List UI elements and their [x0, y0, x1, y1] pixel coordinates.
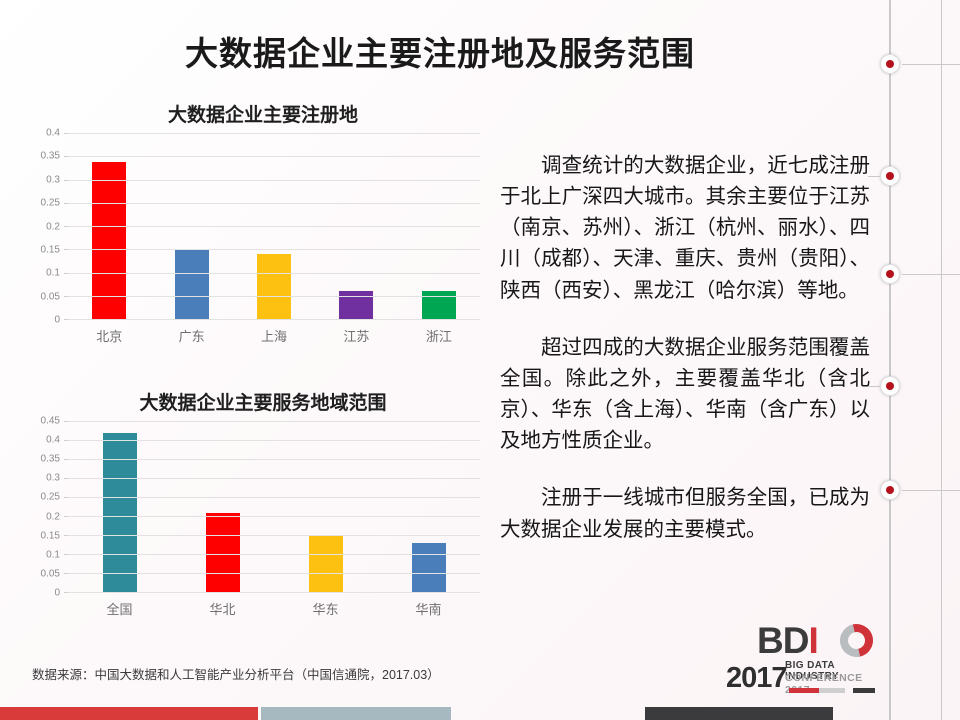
y-axis-tick-mark [64, 478, 68, 479]
x-axis-labels: 北京广东上海江苏浙江 [68, 322, 480, 348]
y-axis-tick-label: 0.1 [46, 268, 60, 279]
grid-line [68, 478, 480, 479]
bar-全国 [103, 433, 137, 592]
y-axis-tick-label: 0.1 [46, 549, 60, 560]
bar-华东 [309, 535, 343, 592]
grid-line [68, 459, 480, 460]
y-axis-tick-mark [64, 226, 68, 227]
accent-segment-gray [261, 707, 451, 720]
y-axis-tick-label: 0.15 [41, 244, 60, 255]
y-axis-tick-mark [64, 156, 68, 157]
grid-line [68, 573, 480, 574]
x-axis-label-华北: 华北 [171, 599, 274, 618]
grid-line [68, 133, 480, 134]
accent-segment-red [0, 707, 258, 720]
x-axis-label-江苏: 江苏 [315, 326, 397, 345]
chart-registration-location: 大数据企业主要注册地 00.050.10.150.20.250.30.350.4… [18, 100, 488, 348]
timeline-connector-4 [868, 386, 880, 387]
x-axis-label-华南: 华南 [377, 599, 480, 618]
bar-华南 [412, 543, 446, 592]
bar-slot [274, 421, 377, 592]
y-axis-tick-mark [64, 440, 68, 441]
logo-bd-text: BD [757, 620, 808, 661]
grid-line [68, 319, 480, 320]
chart-plot-area: 00.050.10.150.20.250.30.350.40.45 全国华北华东… [20, 421, 488, 621]
chart-plot-area: 00.050.10.150.20.250.30.350.4 北京广东上海江苏浙江 [20, 133, 488, 348]
bar-series [68, 421, 480, 592]
slide-canvas: 大数据企业主要注册地及服务范围 大数据企业主要注册地 00.050.10.150… [0, 0, 960, 720]
timeline-node-3 [880, 264, 900, 284]
timeline-node-2 [880, 166, 900, 186]
y-axis-tick-mark [64, 203, 68, 204]
y-axis-tick-mark [64, 180, 68, 181]
y-axis-tick-label: 0.05 [41, 291, 60, 302]
y-axis-tick-label: 0.25 [41, 492, 60, 503]
x-axis-label-北京: 北京 [68, 326, 150, 345]
grid-line [68, 535, 480, 536]
grid-line [68, 440, 480, 441]
y-axis-tick-mark [64, 296, 68, 297]
y-axis-tick-mark [64, 459, 68, 460]
bdic-logo: BDI BIG DATA INDUSTRY CONFERENCE 2017 20… [733, 622, 883, 700]
y-axis-tick-mark [64, 249, 68, 250]
y-axis: 00.050.10.150.20.250.30.350.4 [20, 133, 64, 320]
chart-title: 大数据企业主要服务地域范围 [18, 388, 488, 415]
grid-line [68, 226, 480, 227]
timeline-node-1 [880, 54, 900, 74]
y-axis-tick-label: 0.15 [41, 530, 60, 541]
y-axis-tick-label: 0.35 [41, 454, 60, 465]
x-axis-label-上海: 上海 [233, 326, 315, 345]
right-edge-rule [941, 0, 942, 720]
y-axis-tick-label: 0.35 [41, 151, 60, 162]
y-axis-tick-mark [64, 421, 68, 422]
logo-wordmark: BDI [757, 622, 818, 659]
timeline-connector-1 [902, 64, 960, 65]
grid-line [68, 203, 480, 204]
x-axis-label-华东: 华东 [274, 599, 377, 618]
timeline-decoration [880, 0, 960, 720]
y-axis-tick-label: 0.4 [46, 435, 60, 446]
page-title: 大数据企业主要注册地及服务范围 [0, 34, 880, 74]
grid-line [68, 296, 480, 297]
y-axis-tick-label: 0 [54, 315, 60, 326]
x-axis-label-广东: 广东 [150, 326, 232, 345]
paragraph-registration: 调查统计的大数据企业，近七成注册于北上广深四大城市。其余主要位于江苏（南京、苏州… [500, 150, 870, 306]
commentary-column: 调查统计的大数据企业，近七成注册于北上广深四大城市。其余主要位于江苏（南京、苏州… [500, 150, 870, 571]
y-axis-tick-mark [64, 319, 68, 320]
logo-year: 2017 [726, 664, 787, 693]
logo-rule-dark [853, 688, 875, 693]
y-axis-tick-mark [64, 516, 68, 517]
partial-ring-icon [834, 618, 879, 663]
accent-segment-dark [645, 707, 833, 720]
y-axis-tick-label: 0.45 [41, 416, 60, 427]
grid-line [68, 156, 480, 157]
paragraph-service-coverage: 超过四成的大数据企业服务范围覆盖全国。除此之外，主要覆盖华北（含北京）、华东（含… [500, 332, 870, 457]
x-axis-label-浙江: 浙江 [398, 326, 480, 345]
y-axis-tick-mark [64, 573, 68, 574]
y-axis-tick-label: 0.05 [41, 568, 60, 579]
grid-line [68, 180, 480, 181]
y-axis-tick-label: 0.3 [46, 174, 60, 185]
timeline-connector-3 [902, 274, 960, 275]
plot-region [68, 133, 480, 320]
timeline-spine [889, 0, 891, 720]
y-axis: 00.050.10.150.20.250.30.350.40.45 [20, 421, 64, 593]
timeline-connector-5 [902, 490, 960, 491]
y-axis-tick-label: 0.25 [41, 198, 60, 209]
x-axis-label-全国: 全国 [68, 599, 171, 618]
y-axis-tick-mark [64, 133, 68, 134]
y-axis-tick-label: 0.3 [46, 473, 60, 484]
logo-rule-red [789, 688, 819, 693]
bar-广东 [175, 250, 209, 319]
bar-华北 [206, 513, 240, 592]
data-source-note: 数据来源：中国大数据和人工智能产业分析平台（中国信通院，2017.03） [32, 664, 440, 683]
bar-slot [171, 421, 274, 592]
grid-line [68, 421, 480, 422]
timeline-node-5 [880, 480, 900, 500]
grid-line [68, 592, 480, 593]
grid-line [68, 273, 480, 274]
grid-line [68, 497, 480, 498]
y-axis-tick-mark [64, 592, 68, 593]
y-axis-tick-label: 0.2 [46, 221, 60, 232]
chart-service-region: 大数据企业主要服务地域范围 00.050.10.150.20.250.30.35… [18, 388, 488, 621]
y-axis-tick-mark [64, 273, 68, 274]
grid-line [68, 249, 480, 250]
y-axis-tick-label: 0.4 [46, 128, 60, 139]
bar-slot [68, 421, 171, 592]
grid-line [68, 516, 480, 517]
y-axis-tick-label: 0.2 [46, 511, 60, 522]
paragraph-conclusion: 注册于一线城市但服务全国，已成为大数据企业发展的主要模式。 [500, 482, 870, 544]
bottom-accent-bar [0, 706, 960, 720]
bar-上海 [257, 254, 291, 319]
timeline-node-4 [880, 376, 900, 396]
bar-slot [377, 421, 480, 592]
y-axis-tick-mark [64, 554, 68, 555]
logo-rule-gray [819, 688, 845, 693]
y-axis-tick-mark [64, 535, 68, 536]
y-axis-tick-mark [64, 497, 68, 498]
y-axis-tick-label: 0 [54, 588, 60, 599]
chart-title: 大数据企业主要注册地 [18, 100, 488, 127]
grid-line [68, 554, 480, 555]
logo-i-text: I [808, 620, 817, 661]
timeline-connector-2 [868, 176, 880, 177]
x-axis-labels: 全国华北华东华南 [68, 595, 480, 621]
plot-region [68, 421, 480, 593]
